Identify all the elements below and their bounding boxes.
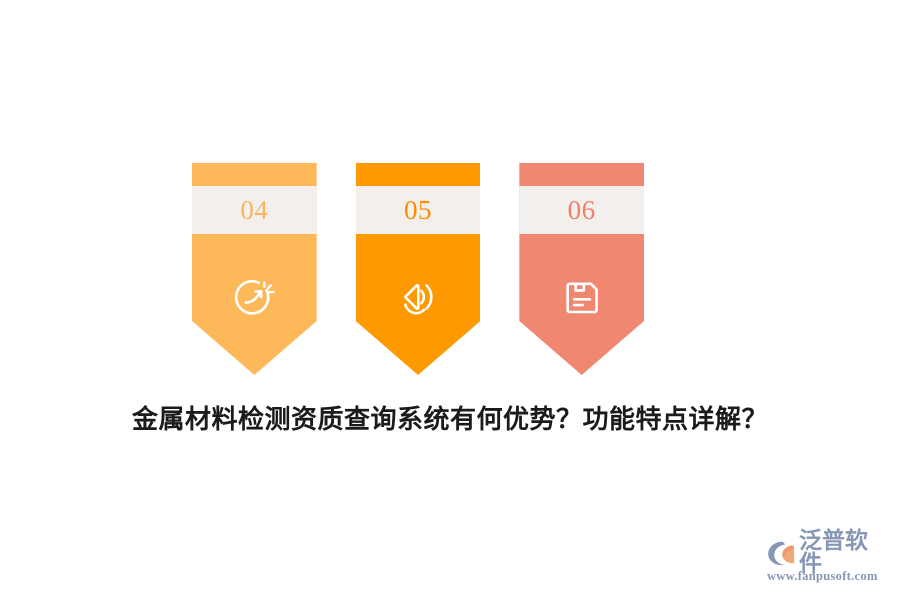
banner-step-04[interactable]: 04 [192,163,317,375]
save-document-icon [556,271,608,323]
slide-canvas: 04 05 [0,0,900,600]
banner-group: 04 05 [192,163,644,375]
banner-number-label: 04 [240,197,268,224]
broadcast-signal-play-icon [392,271,444,323]
banner-number-band: 04 [192,186,317,234]
logo-wordmark-row: 泛普软件 [766,538,890,568]
banner-step-05[interactable]: 05 [356,163,481,375]
banner-step-06[interactable]: 06 [519,163,644,375]
banner-number-band: 05 [356,186,481,234]
logo-website-url: www.fanpusoft.com [766,570,890,583]
banner-number-label: 06 [568,197,596,224]
fanpu-swoosh-logo-icon [766,539,796,567]
brand-logo: 泛普软件 www.fanpusoft.com [766,538,890,586]
banner-number-band: 06 [519,186,644,234]
page-title: 金属材料检测资质查询系统有何优势？功能特点详解？ [0,404,900,438]
target-arrow-growth-icon [228,271,280,323]
banner-number-label: 05 [404,197,432,224]
